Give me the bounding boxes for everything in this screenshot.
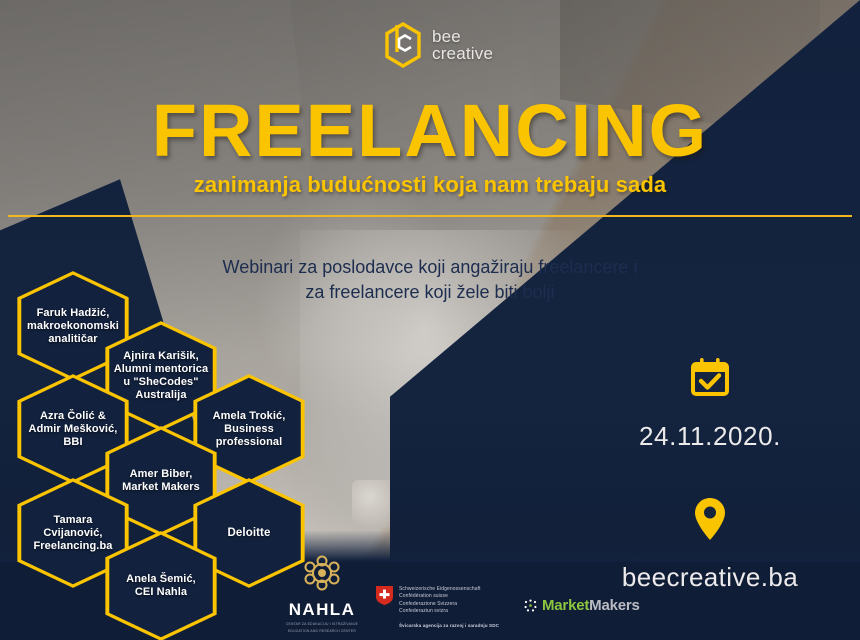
speaker-line: Freelancing.ba [33,540,112,553]
speaker-line: Admir Mešković, [29,423,118,436]
speaker-line: BBI [29,436,118,449]
brand-logo-text: bee creative [432,28,493,62]
speaker-line: Ajnira Karišik, [114,350,209,363]
speaker-line: analitičar [27,333,119,346]
swiss-text-block: Schweizerische Eidgenossenschaft Confédé… [399,586,499,628]
speaker-line: Faruk Hadžić, [27,307,119,320]
speaker-line: Australija [114,389,209,402]
nahla-subtitle-1: CENTAR ZA EDUKACIJU I ISTRAŽIVANJE [282,622,362,627]
nahla-logo: NAHLA CENTAR ZA EDUKACIJU I ISTRAŽIVANJE… [282,553,362,634]
bee-hexagon-logo-icon [383,22,423,68]
event-info: 24.11.2020. beecreative.ba [560,355,860,593]
swiss-agency-line: Švicarska agencija za razvoj i saradnju … [399,623,499,628]
brand-line-2: creative [432,45,493,62]
speaker-line: Deloitte [228,527,271,540]
speaker-line: Alumni mentorica [114,363,209,376]
speaker-line: Tamara [33,514,112,527]
speaker-hex-label: Azra Čolić &Admir Mešković,BBI [19,410,128,449]
divider-line [8,215,852,217]
calendar-check-icon [687,355,733,401]
location-pin-icon [692,496,728,542]
nahla-name: NAHLA [282,600,362,620]
speaker-line: Amer Biber, [122,468,200,481]
swiss-cross-icon [376,586,393,605]
speaker-line: professional [213,436,286,449]
footer-partner-logos: NAHLA CENTAR ZA EDUKACIJU I ISTRAŽIVANJE… [0,562,860,640]
speaker-line: makroekonomski [27,320,119,333]
swiss-line-3: Confederazione Svizzera [399,601,499,608]
marketmakers-dots-icon [524,599,537,612]
nahla-subtitle-2: EDUCATION AND RESEARCH CENTER [282,629,362,634]
speaker-hex-label: Faruk Hadžić,makroekonomskianalitičar [17,307,129,346]
speaker-line: Azra Čolić & [29,410,118,423]
speaker-hex-label: Amer Biber,Market Makers [112,468,210,494]
page-title: FREELANCING [0,92,860,170]
brand-line-1: bee [432,28,493,45]
swiss-line-2: Confédération suisse [399,593,499,600]
swiss-confederation-logo: Schweizerische Eidgenossenschaft Confédé… [376,586,499,628]
marketmakers-part-1: Market [542,597,589,614]
speaker-line: u "SheCodes" [114,376,209,389]
marketmakers-wordmark: MarketMakers [542,597,640,614]
speaker-line: Cvijanović, [33,527,112,540]
marketmakers-part-2: Makers [589,597,640,614]
nahla-emblem-icon [301,553,343,593]
page-subtitle: zanimanja budućnosti koja nam trebaju sa… [0,172,860,198]
swiss-line-4: Confederaziun svizra [399,608,499,615]
speaker-hex-label: Ajnira Karišik,Alumni mentoricau "SheCod… [104,350,219,402]
brand-logo[interactable]: bee creative [383,22,493,68]
speaker-line: Amela Trokić, [213,410,286,423]
speaker-hex-label: Deloitte [218,527,281,540]
speaker-line: Business [213,423,286,436]
swiss-line-1: Schweizerische Eidgenossenschaft [399,586,499,593]
marketmakers-logo: MarketMakers [524,597,640,614]
poster-canvas: bee creative FREELANCING zanimanja buduć… [0,0,860,640]
speaker-hex-label: Amela Trokić,Businessprofessional [203,410,296,449]
speaker-hex-label: TamaraCvijanović,Freelancing.ba [23,514,122,553]
event-date: 24.11.2020. [560,421,860,452]
speaker-line: Market Makers [122,481,200,494]
